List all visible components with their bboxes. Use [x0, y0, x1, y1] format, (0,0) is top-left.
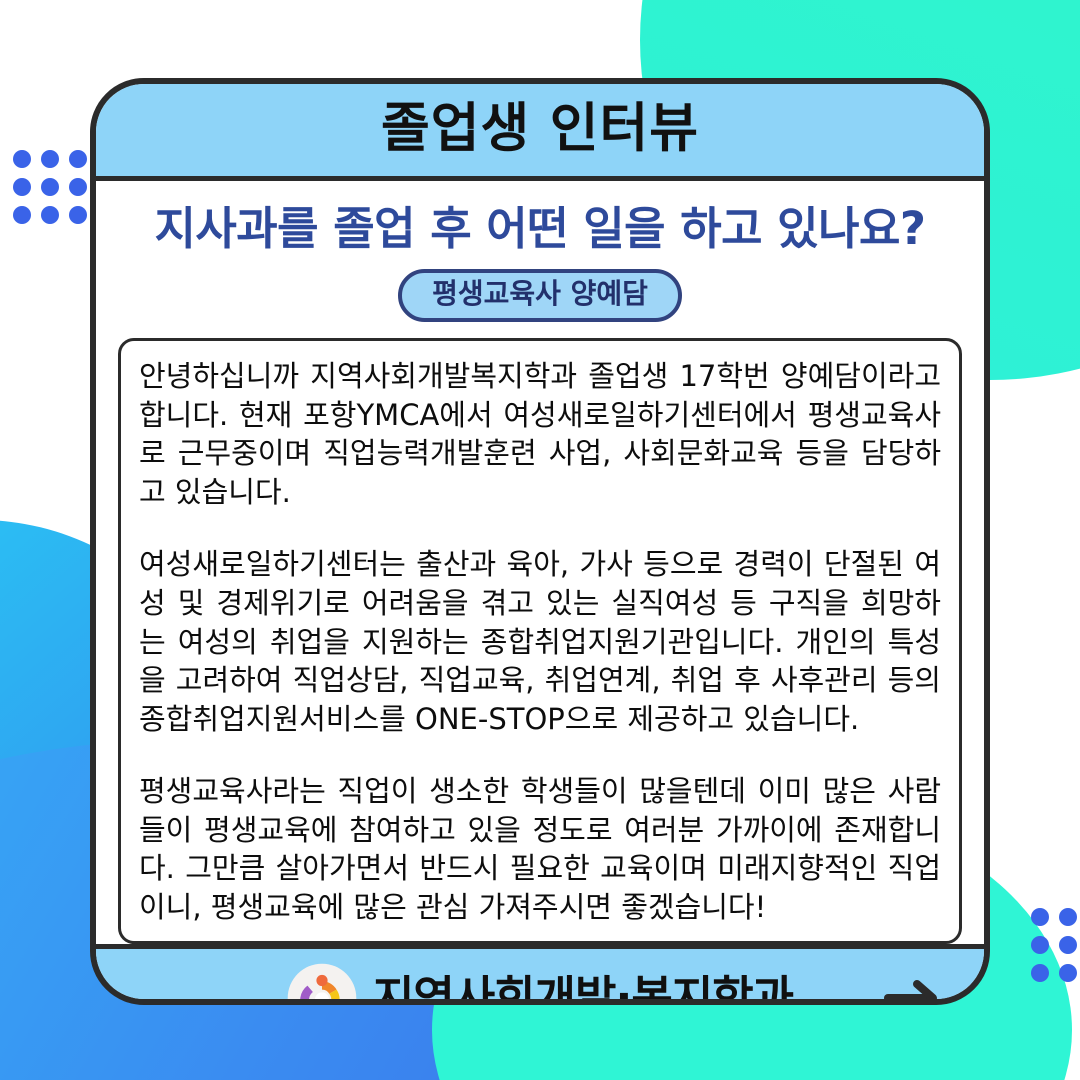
card-header: 졸업생 인터뷰: [96, 84, 984, 181]
dot-grid-bottom-right: [1026, 903, 1080, 987]
dot: [13, 178, 31, 196]
answer-paragraph-1: 안녕하십니까 지역사회개발복지학과 졸업생 17학번 양예담이라고 합니다. 현…: [139, 357, 941, 511]
dot: [41, 206, 59, 224]
dot: [69, 206, 87, 224]
dot: [1031, 936, 1049, 954]
interview-card: 졸업생 인터뷰 지사과를 졸업 후 어떤 일을 하고 있나요? 평생교육사 양예…: [90, 78, 990, 1005]
dot: [1059, 908, 1077, 926]
answer-text-box: 안녕하십니까 지역사회개발복지학과 졸업생 17학번 양예담이라고 합니다. 현…: [118, 338, 962, 943]
answer-section: 안녕하십니까 지역사회개발복지학과 졸업생 17학번 양예담이라고 합니다. 현…: [96, 322, 984, 943]
answer-paragraph-2: 여성새로일하기센터는 출산과 육아, 가사 등으로 경력이 단절된 여성 및 경…: [139, 545, 941, 738]
dot: [41, 150, 59, 168]
arrow-right-icon[interactable]: [884, 974, 942, 1005]
dot: [1031, 908, 1049, 926]
department-name: 지역사회개발·복지학과: [373, 975, 793, 1005]
dot: [13, 206, 31, 224]
interviewee-badge: 평생교육사 양예담: [398, 269, 682, 322]
dot: [69, 150, 87, 168]
dot: [1059, 964, 1077, 982]
department-logo-icon: Community Development Welfare: [287, 963, 357, 1005]
dot-grid-left: [8, 145, 92, 229]
dot: [1031, 964, 1049, 982]
answer-paragraph-3: 평생교육사라는 직업이 생소한 학생들이 많을텐데 이미 많은 사람들이 평생교…: [139, 772, 941, 926]
question-section: 지사과를 졸업 후 어떤 일을 하고 있나요? 평생교육사 양예담: [96, 181, 984, 322]
page-title: 졸업생 인터뷰: [96, 100, 984, 158]
question-text: 지사과를 졸업 후 어떤 일을 하고 있나요?: [116, 203, 964, 255]
dot: [69, 178, 87, 196]
badge-row: 평생교육사 양예담: [116, 269, 964, 322]
dot: [41, 178, 59, 196]
dot: [1059, 936, 1077, 954]
footer-brand: Community Development Welfare 지역사회개발·복지학…: [287, 963, 793, 1005]
card-footer: Community Development Welfare 지역사회개발·복지학…: [96, 944, 984, 1005]
dot: [13, 150, 31, 168]
